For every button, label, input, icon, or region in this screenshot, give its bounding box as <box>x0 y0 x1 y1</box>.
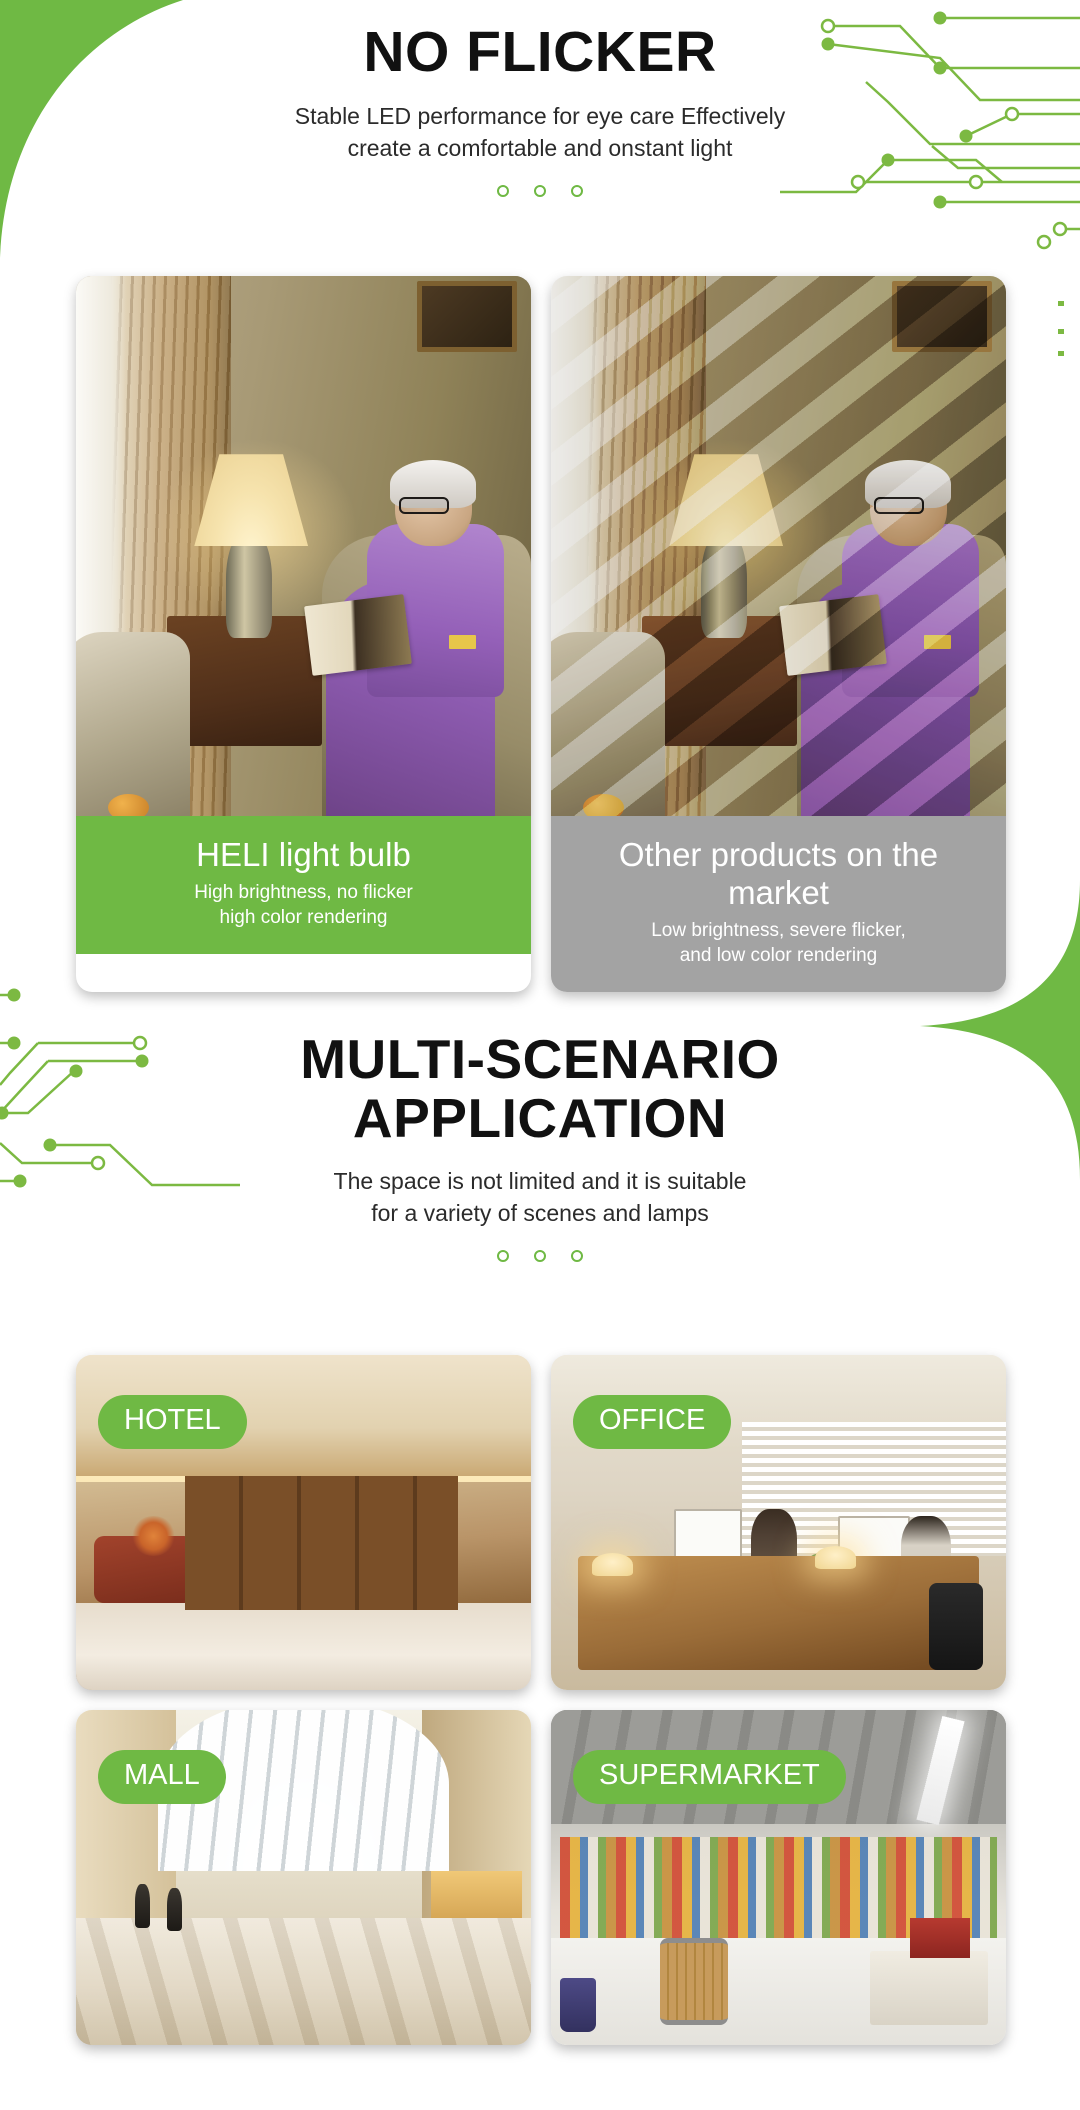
subtitle-line-1: The space is not limited and it is suita… <box>0 1165 1080 1198</box>
subtitle-line-2: for a variety of scenes and lamps <box>0 1197 1080 1230</box>
dot-icon <box>571 1250 583 1262</box>
comparison-label-other: Other products on the market Low brightn… <box>551 816 1006 992</box>
promo-page: NO FLICKER Stable LED performance for ey… <box>0 0 1080 2110</box>
dot-icon <box>534 185 546 197</box>
scenario-card-hotel: HOTEL <box>76 1355 531 1690</box>
subtitle-line-1: Stable LED performance for eye care Effe… <box>0 100 1080 133</box>
dot-separator-multi-scenario <box>0 1250 1080 1262</box>
dot-separator-flicker <box>0 185 1080 197</box>
dot-icon <box>497 185 509 197</box>
subtitle-line-2: create a comfortable and onstant light <box>0 132 1080 165</box>
comparison-title: HELI light bulb <box>90 836 517 874</box>
comparison-desc-line-1: High brightness, no flicker <box>90 880 517 905</box>
comparison-desc-line-2: and low color rendering <box>565 943 992 968</box>
section-no-flicker: NO FLICKER Stable LED performance for ey… <box>0 22 1080 197</box>
scenario-badge-office: OFFICE <box>573 1395 731 1449</box>
scenario-card-supermarket: SUPERMARKET <box>551 1710 1006 2045</box>
comparison-photo-other <box>551 276 1006 816</box>
comparison-photo-heli <box>76 276 531 816</box>
comparison-card-other: Other products on the market Low brightn… <box>551 276 1006 992</box>
comparison-row: HELI light bulb High brightness, no flic… <box>76 276 1006 992</box>
scenario-badge-supermarket: SUPERMARKET <box>573 1750 846 1804</box>
circuit-decoration-right-edge <box>1050 215 1080 395</box>
scenario-grid: HOTEL OFFICE <box>76 1355 1006 2045</box>
scenario-card-office: OFFICE <box>551 1355 1006 1690</box>
page-title-multi-scenario-line-2: APPLICATION <box>0 1089 1080 1148</box>
page-title-no-flicker: NO FLICKER <box>0 22 1080 84</box>
page-title-multi-scenario-line-1: MULTI-SCENARIO <box>0 1030 1080 1089</box>
dot-icon <box>497 1250 509 1262</box>
dot-icon <box>571 185 583 197</box>
comparison-title: Other products on the market <box>565 836 992 912</box>
scenario-badge-mall: MALL <box>98 1750 226 1804</box>
comparison-desc-line-1: Low brightness, severe flicker, <box>565 918 992 943</box>
comparison-desc-line-2: high color rendering <box>90 905 517 930</box>
scenario-badge-hotel: HOTEL <box>98 1395 247 1449</box>
scenario-card-mall: MALL <box>76 1710 531 2045</box>
subtitle-multi-scenario: The space is not limited and it is suita… <box>0 1165 1080 1230</box>
comparison-label-heli: HELI light bulb High brightness, no flic… <box>76 816 531 954</box>
flicker-banding-overlay <box>551 276 1006 816</box>
dot-icon <box>534 1250 546 1262</box>
subtitle-no-flicker: Stable LED performance for eye care Effe… <box>0 100 1080 165</box>
comparison-card-heli: HELI light bulb High brightness, no flic… <box>76 276 531 992</box>
section-multi-scenario: MULTI-SCENARIO APPLICATION The space is … <box>0 1030 1080 1262</box>
